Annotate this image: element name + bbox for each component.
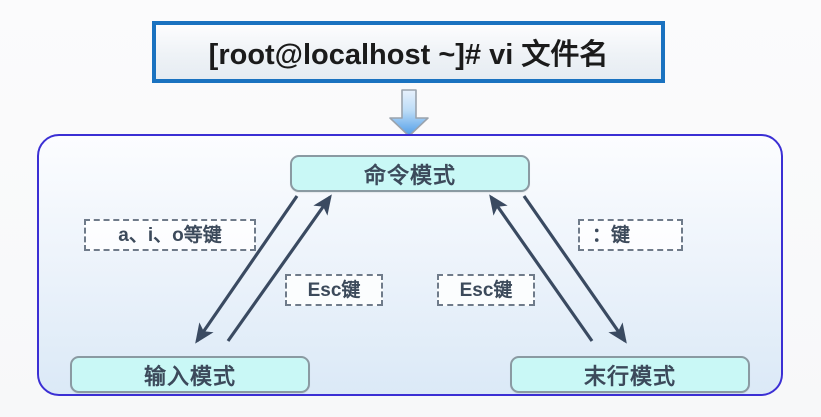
key-label-colon: ：键 <box>578 219 683 251</box>
key-label-colon-text: ：键 <box>592 226 630 245</box>
mode-label-command: 命令模式 <box>364 158 456 190</box>
key-label-esc-left-text: Esc键 <box>308 281 361 300</box>
command-prompt-box: [root@localhost ~]# vi 文件名 <box>152 21 665 83</box>
key-label-aio: a、i、o等键 <box>84 219 256 251</box>
diagram-screen: [root@localhost ~]# vi 文件名 <box>0 0 821 417</box>
key-label-esc-left: Esc键 <box>285 274 383 306</box>
key-label-esc-right: Esc键 <box>437 274 535 306</box>
key-label-esc-right-text: Esc键 <box>460 281 513 300</box>
mode-box-command[interactable]: 命令模式 <box>290 155 530 192</box>
key-label-aio-text: a、i、o等键 <box>118 226 221 245</box>
mode-box-input[interactable]: 输入模式 <box>70 356 310 393</box>
arrow-down-icon <box>386 88 432 138</box>
command-prompt-text: [root@localhost ~]# vi 文件名 <box>209 31 609 73</box>
mode-box-lastline[interactable]: 末行模式 <box>510 356 750 393</box>
mode-label-lastline: 末行模式 <box>584 359 676 391</box>
mode-label-input: 输入模式 <box>144 359 236 391</box>
